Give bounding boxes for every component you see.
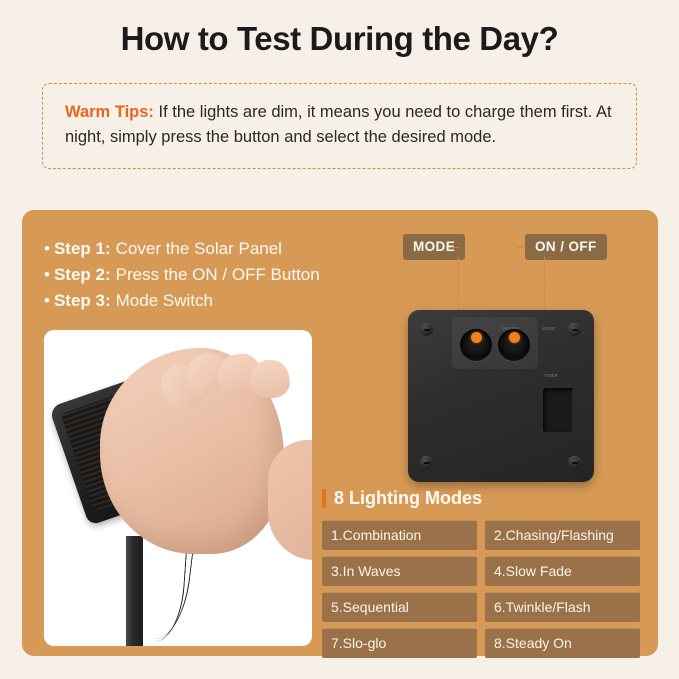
screw-icon [420, 323, 433, 336]
solar-panel-photo [44, 330, 312, 646]
step-label: Step 3: [54, 288, 111, 314]
bullet-icon: • [44, 288, 50, 314]
lighting-modes-section: 8 Lighting Modes 1.Combination 2.Chasing… [322, 488, 640, 658]
mode-button-indicator [471, 332, 482, 343]
device-micro-label-timer: TIMER [544, 373, 558, 378]
lighting-modes-header: 8 Lighting Modes [322, 488, 640, 509]
page-title: How to Test During the Day? [0, 0, 679, 58]
mode-cell: 3.In Waves [322, 556, 477, 586]
step-text: Cover the Solar Panel [116, 236, 282, 262]
steps-list: • Step 1: Cover the Solar Panel • Step 2… [44, 236, 364, 313]
button-well: ON/OFF MODE TIMER [452, 317, 538, 369]
step-label: Step 1: [54, 236, 111, 262]
bullet-icon: • [44, 236, 50, 262]
mode-cell: 2.Chasing/Flashing [485, 520, 640, 550]
device-slot [543, 388, 573, 432]
photo-stage [44, 330, 312, 646]
mode-cell: 8.Steady On [485, 628, 640, 658]
screw-icon [568, 456, 581, 469]
device-micro-label-mode: MODE [542, 326, 555, 331]
step-text: Press the ON / OFF Button [116, 262, 320, 288]
mode-cell: 7.Slo-glo [322, 628, 477, 658]
callout-badge-onoff: ON / OFF [525, 234, 607, 260]
screw-icon [568, 323, 581, 336]
step-item: • Step 1: Cover the Solar Panel [44, 236, 364, 262]
warm-tips-text: Warm Tips: If the lights are dim, it mea… [65, 100, 616, 150]
finger-shape [249, 359, 292, 400]
mode-cell: 1.Combination [322, 520, 477, 550]
device-panel: ON/OFF MODE TIMER [408, 310, 594, 482]
bullet-icon: • [44, 262, 50, 288]
step-item: • Step 2: Press the ON / OFF Button [44, 262, 364, 288]
lighting-modes-grid: 1.Combination 2.Chasing/Flashing 3.In Wa… [322, 520, 640, 658]
mode-cell: 5.Sequential [322, 592, 477, 622]
onoff-button-indicator [509, 332, 520, 343]
callout-elbow-onoff [516, 247, 526, 248]
mode-cell: 4.Slow Fade [485, 556, 640, 586]
warm-tips-box: Warm Tips: If the lights are dim, it mea… [42, 83, 637, 169]
step-item: • Step 3: Mode Switch [44, 288, 364, 314]
hand-shape [100, 348, 284, 554]
mode-cell: 6.Twinkle/Flash [485, 592, 640, 622]
step-text: Mode Switch [116, 288, 213, 314]
step-label: Step 2: [54, 262, 111, 288]
lighting-modes-title: 8 Lighting Modes [334, 488, 482, 509]
screw-icon [420, 456, 433, 469]
warm-tips-label: Warm Tips: [65, 103, 154, 121]
wrist-shape [268, 440, 312, 560]
instruction-card: • Step 1: Cover the Solar Panel • Step 2… [22, 210, 658, 656]
onoff-button[interactable] [498, 329, 530, 361]
mode-button[interactable] [460, 329, 492, 361]
accent-bar-icon [322, 489, 326, 508]
callout-elbow-mode [449, 247, 459, 248]
